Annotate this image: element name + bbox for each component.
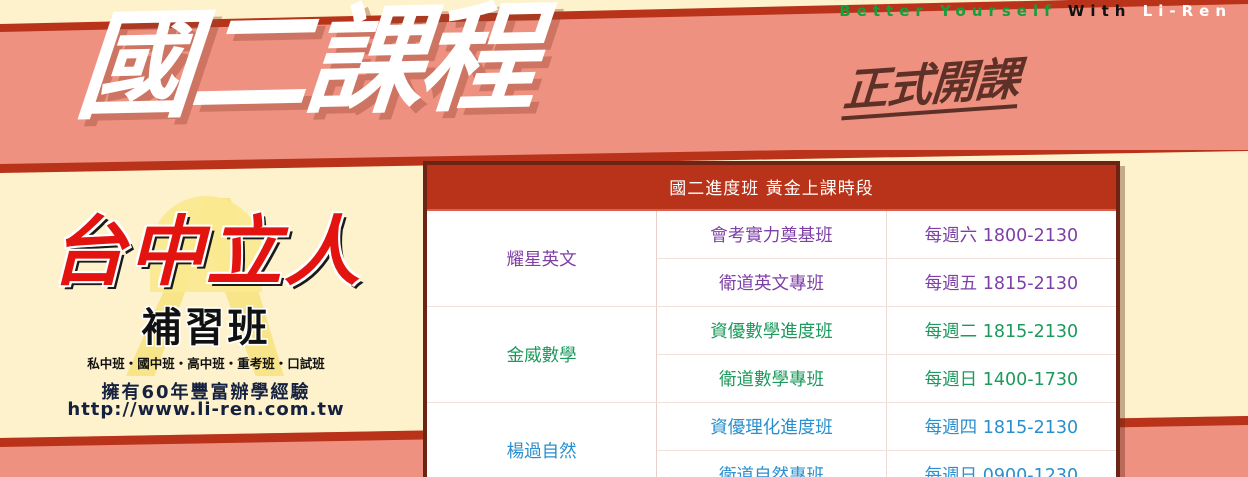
course-name: 衛道自然專班 (657, 451, 887, 477)
logo-website-url: http://www.li-ren.com.tw (30, 399, 382, 420)
schedule-body: 耀星英文 會考實力奠基班 每週六 1800-2130 衛道英文專班 每週五 18… (427, 210, 1116, 477)
teacher-name: 金威數學 (427, 307, 657, 403)
course-time: 每週五 1815-2130 (886, 259, 1116, 307)
promo-banner: Better Yourself With Li-Ren 國二課程 正式開課 台中… (0, 0, 1248, 477)
logo-course-list: 私中班・國中班・高中班・重考班・口試班 (30, 353, 382, 372)
table-row: 金威數學 資優數學進度班 每週二 1815-2130 (427, 307, 1116, 355)
course-time: 每週六 1800-2130 (886, 210, 1116, 259)
course-name: 資優理化進度班 (657, 403, 887, 451)
course-name: 衛道數學專班 (657, 355, 887, 403)
logo-brand: 台中立人 (30, 214, 382, 290)
course-name: 會考實力奠基班 (657, 210, 887, 259)
tagline-part-3: Li-Ren (1143, 2, 1232, 20)
teacher-name: 耀星英文 (427, 210, 657, 307)
teacher-name: 楊過自然 (427, 403, 657, 477)
headline-title: 國二課程 (72, 0, 539, 126)
tagline-part-2: With (1068, 2, 1132, 20)
course-time: 每週四 1815-2130 (886, 403, 1116, 451)
course-name: 資優數學進度班 (657, 307, 887, 355)
table-row: 耀星英文 會考實力奠基班 每週六 1800-2130 (427, 210, 1116, 259)
tagline-part-1: Better Yourself (839, 2, 1056, 20)
schedule-title: 國二進度班 黃金上課時段 (427, 165, 1116, 210)
course-time: 每週日 0900-1230 (886, 451, 1116, 477)
tagline: Better Yourself With Li-Ren (839, 2, 1232, 20)
schedule-header-row: 國二進度班 黃金上課時段 (427, 165, 1116, 210)
course-time: 每週日 1400-1730 (886, 355, 1116, 403)
schedule-table: 國二進度班 黃金上課時段 耀星英文 會考實力奠基班 每週六 1800-2130 … (427, 165, 1116, 477)
schedule-table-container: 國二進度班 黃金上課時段 耀星英文 會考實力奠基班 每週六 1800-2130 … (423, 161, 1120, 477)
course-name: 衛道英文專班 (657, 259, 887, 307)
table-row: 楊過自然 資優理化進度班 每週四 1815-2130 (427, 403, 1116, 451)
logo-brand-sub: 補習班 (30, 308, 382, 348)
school-logo: 台中立人 補習班 私中班・國中班・高中班・重考班・口試班 擁有60年豐富辦學經驗… (30, 196, 382, 418)
course-time: 每週二 1815-2130 (886, 307, 1116, 355)
